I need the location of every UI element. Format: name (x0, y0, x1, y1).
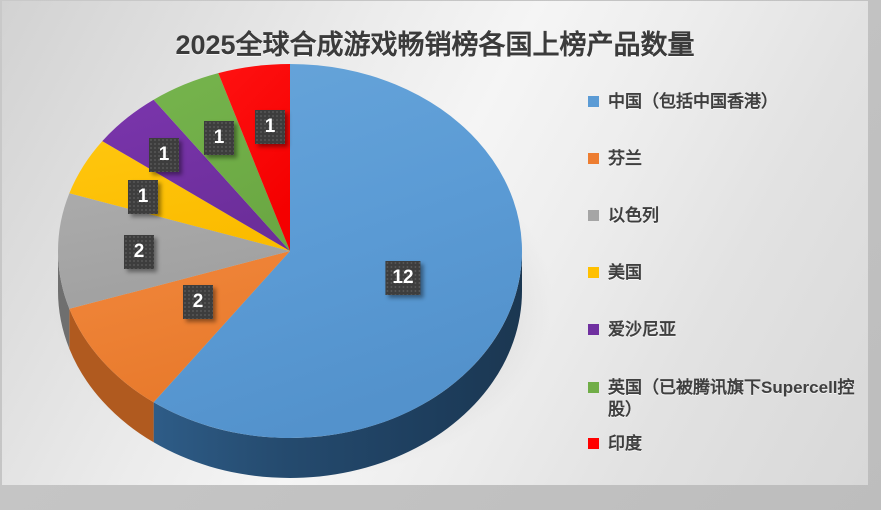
chart-frame: 2025全球合成游戏畅销榜各国上榜产品数量 (0, 0, 881, 510)
legend-item-india[interactable]: 印度 (588, 433, 866, 455)
legend-label-uk: 英国（已被腾讯旗下Supercell控股） (608, 377, 866, 422)
legend-label-finland: 芬兰 (608, 148, 642, 170)
legend-label-estonia: 爱沙尼亚 (608, 319, 676, 341)
data-label-uk: 1 (204, 121, 234, 155)
data-label-estonia: 1 (149, 138, 179, 172)
legend-swatch-icon-india (588, 438, 599, 449)
pie-chart: 12 2 2 1 1 1 1 (2, 1, 582, 485)
data-label-china: 12 (385, 261, 420, 295)
pie-chart-svg (2, 1, 582, 485)
legend-swatch-icon-china (588, 96, 599, 107)
chart-plot-surface: 2025全球合成游戏畅销榜各国上榜产品数量 (2, 1, 868, 485)
data-label-finland: 2 (183, 285, 213, 319)
legend-label-israel: 以色列 (608, 205, 659, 227)
legend-item-israel[interactable]: 以色列 (588, 205, 866, 227)
legend-label-usa: 美国 (608, 262, 642, 284)
legend-item-uk[interactable]: 英国（已被腾讯旗下Supercell控股） (588, 377, 866, 422)
legend-item-finland[interactable]: 芬兰 (588, 148, 866, 170)
legend-item-china[interactable]: 中国（包括中国香港） (588, 91, 866, 113)
data-label-usa: 1 (128, 180, 158, 214)
legend-swatch-icon-israel (588, 210, 599, 221)
legend-item-estonia[interactable]: 爱沙尼亚 (588, 319, 866, 341)
legend-label-india: 印度 (608, 433, 642, 455)
legend-label-china: 中国（包括中国香港） (608, 91, 778, 113)
legend-swatch-icon-uk (588, 382, 599, 393)
legend-swatch-icon-finland (588, 153, 599, 164)
data-label-israel: 2 (124, 235, 154, 269)
legend-swatch-icon-usa (588, 267, 599, 278)
data-label-india: 1 (255, 110, 285, 144)
legend-swatch-icon-estonia (588, 324, 599, 335)
legend-item-usa[interactable]: 美国 (588, 262, 866, 284)
